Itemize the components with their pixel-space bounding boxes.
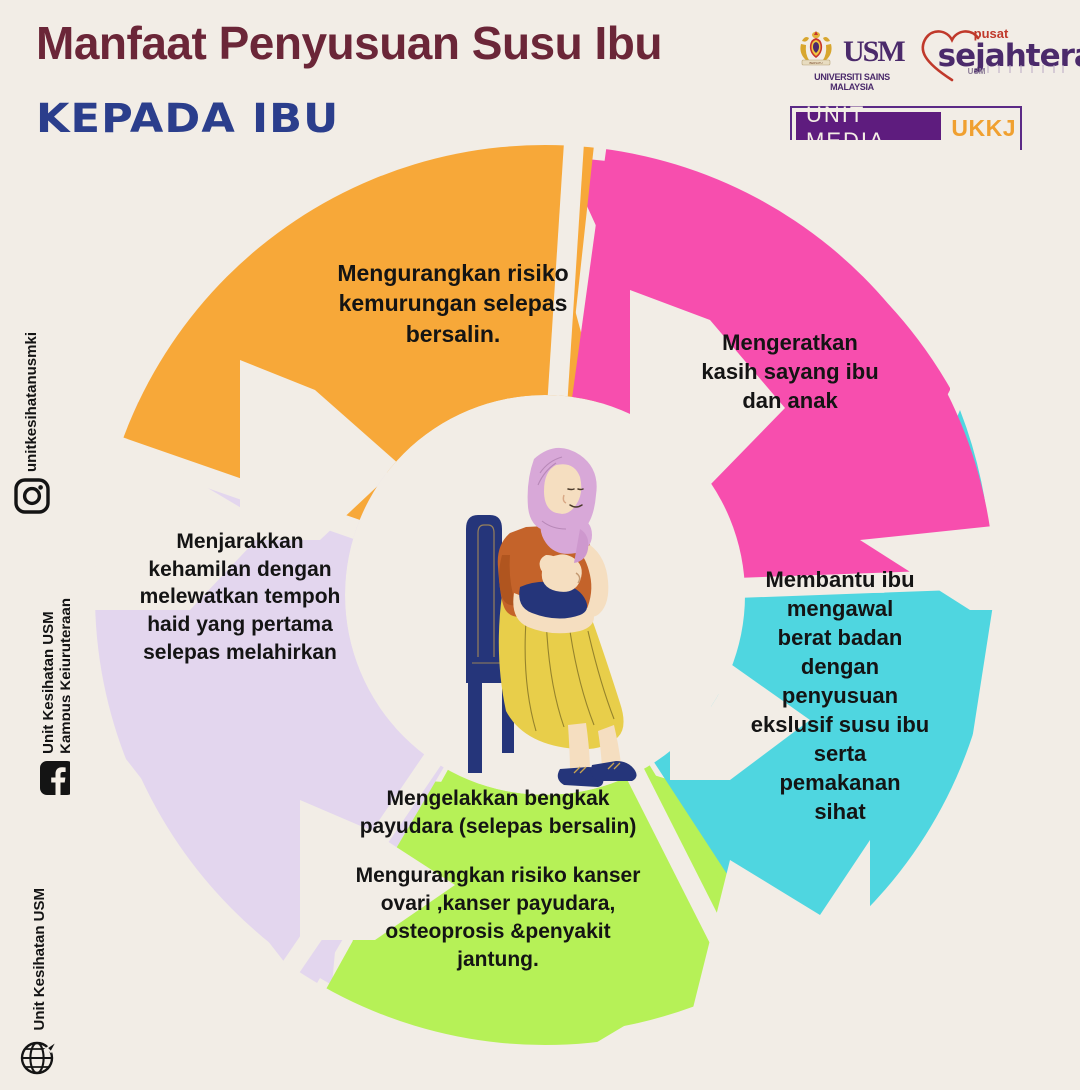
usm-caption: UNIVERSITI SAINS MALAYSIA (793, 72, 911, 92)
tick-marks-icon (986, 63, 1064, 75)
social-instagram[interactable]: unitkesihatanusmki (14, 332, 50, 519)
logo-row: BERSATU USM UNIVERSITI SAINS MALAYSIA pu… (793, 22, 1066, 82)
globe-icon[interactable] (20, 1037, 60, 1080)
page-title: Manfaat Penyusuan Susu Ibu (36, 16, 662, 70)
instagram-icon[interactable] (14, 478, 50, 519)
social-website[interactable]: Unit Kesihatan USM (14, 888, 66, 1080)
usm-logo: BERSATU USM UNIVERSITI SAINS MALAYSIA (793, 29, 904, 75)
instagram-handle: unitkesihatanusmki (23, 332, 40, 472)
sejahtera-usm-label: USM (968, 67, 986, 76)
usm-abbrev: USM (843, 37, 904, 67)
benefits-donut-chart: Mengurangkan risiko kemurungan selepas b… (70, 140, 1020, 1090)
ukkj-label: UKKJ (941, 115, 1016, 142)
mother-breastfeeding-illustration (440, 425, 700, 795)
segment-label-orange: Mengurangkan risiko kemurungan selepas b… (278, 258, 628, 349)
website-label: Unit Kesihatan USM (31, 888, 48, 1031)
malaysia-crest-icon: BERSATU (793, 29, 839, 75)
segment-label-lavender: Menjarakkan kehamilan dengan melewatkan … (90, 528, 390, 667)
page-subtitle: KEPADA IBU (36, 96, 339, 142)
svg-text:BERSATU: BERSATU (809, 61, 822, 65)
segment-label-pink: Mengeratkan kasih sayang ibu dan anak (665, 328, 915, 415)
sejahtera-logo: pusat sejahtera USM (916, 22, 1066, 82)
segment-label-green: Mengelakkan bengkak payudara (selepas be… (318, 785, 678, 973)
segment-label-cyan: Membantu ibu mengawal berat badan dengan… (725, 565, 955, 826)
